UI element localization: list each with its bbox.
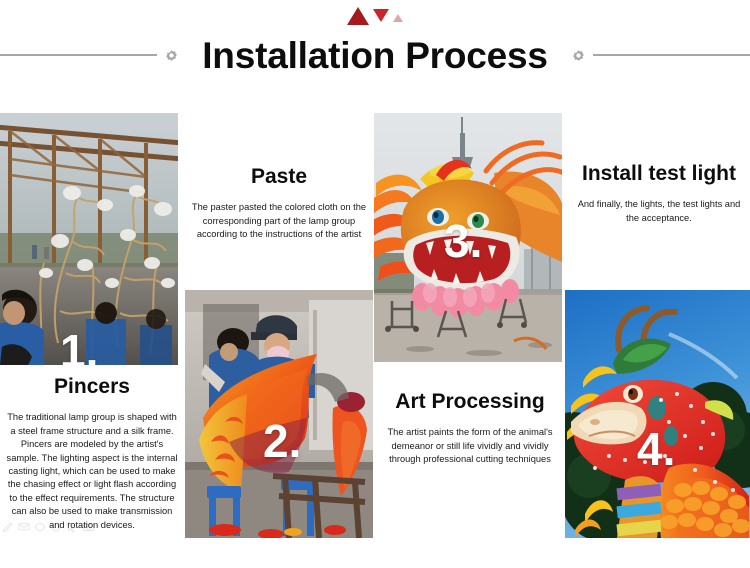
- step-body-4: And finally, the lights, the test lights…: [570, 198, 748, 225]
- pen-icon: [2, 521, 14, 533]
- gear-icon: [163, 47, 180, 64]
- step-photo-4[interactable]: 4.: [565, 290, 750, 538]
- ellipse-icon: [34, 521, 46, 533]
- slide-canvas: Installation Process: [0, 0, 750, 568]
- step-number-1: 1.: [60, 328, 98, 365]
- step-number-2: 2.: [263, 418, 301, 464]
- step-photo-2[interactable]: 2.: [185, 290, 373, 538]
- triangle-medium-down-icon: [373, 9, 389, 22]
- rule-right: [593, 54, 750, 56]
- step-number-4: 4.: [637, 426, 675, 472]
- cursor-icon: [66, 521, 78, 533]
- step-text-3: Art Processing The artist paints the for…: [380, 390, 560, 467]
- step-text-4: Install test light And finally, the ligh…: [570, 162, 748, 225]
- page-title: Installation Process: [186, 37, 564, 74]
- photo-2-artwork: [185, 290, 373, 538]
- step-body-1: The traditional lamp group is shaped wit…: [4, 411, 180, 532]
- triangle-small-up-icon: [393, 14, 403, 22]
- ellipse-icon: [50, 521, 62, 533]
- step-heading-2: Paste: [190, 165, 368, 189]
- camera-icon: [82, 521, 95, 533]
- title-band: Installation Process: [0, 30, 750, 80]
- triangle-logo: [0, 4, 750, 32]
- photo-4-artwork: [565, 290, 750, 538]
- watermark-toolbar: [2, 521, 95, 533]
- step-text-1: Pincers The traditional lamp group is sh…: [4, 375, 180, 532]
- gear-icon: [570, 47, 587, 64]
- step-number-3: 3.: [444, 218, 482, 264]
- step-heading-4: Install test light: [570, 162, 748, 186]
- rule-left: [0, 54, 157, 56]
- step-text-2: Paste The paster pasted the colored clot…: [190, 165, 368, 242]
- message-icon: [18, 521, 30, 533]
- triangle-large-up-icon: [347, 7, 369, 25]
- step-photo-3[interactable]: 3.: [374, 113, 562, 362]
- step-heading-1: Pincers: [4, 375, 180, 399]
- step-body-3: The artist paints the form of the animal…: [380, 426, 560, 466]
- step-heading-3: Art Processing: [380, 390, 560, 414]
- step-photo-1[interactable]: 1.: [0, 113, 178, 365]
- step-body-2: The paster pasted the colored cloth on t…: [190, 201, 368, 241]
